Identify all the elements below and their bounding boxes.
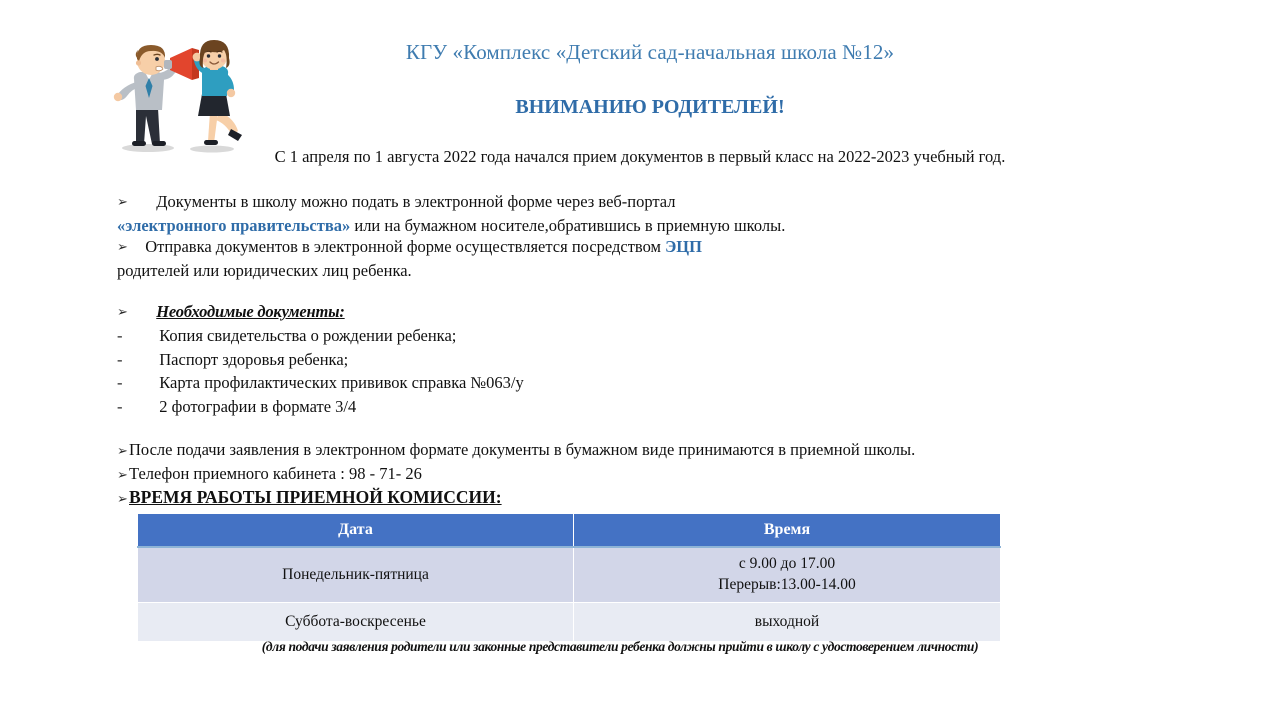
reception-schedule-table: Дата Время Понедельник-пятница с 9.00 до… (137, 513, 1001, 642)
dash-bullet-icon: - (117, 371, 129, 395)
bullet-1-line-2: «электронного правительства» или на бума… (117, 214, 785, 238)
table-head: Дата Время (138, 514, 1001, 548)
required-documents-heading-row: ➢ Необходимые документы: (117, 300, 345, 324)
intro-paragraph: С 1 апреля по 1 августа 2022 года началс… (120, 147, 1160, 167)
arrow-bullet-icon: ➢ (117, 491, 129, 510)
bullet-item-digital-signature: ➢ Отправка документов в электронной форм… (117, 235, 702, 282)
cell-date-weekdays: Понедельник-пятница (138, 547, 574, 603)
list-item: - Паспорт здоровья ребенка; (117, 348, 524, 372)
table-row: Суббота-воскресенье выходной (138, 603, 1001, 642)
required-documents-heading: Необходимые документы: (156, 302, 344, 321)
list-item: - Копия свидетельства о рождении ребенка… (117, 324, 524, 348)
list-item-label: Карта профилактических прививок справка … (159, 373, 524, 392)
tail-note-1-label: После подачи заявления в электронном фор… (129, 440, 915, 459)
cell-time-weekend: выходной (574, 603, 1001, 642)
list-item: - 2 фотографии в формате 3/4 (117, 395, 524, 419)
bullet-line: ➢ Отправка документов в электронной форм… (117, 235, 702, 259)
list-item-label: Копия свидетельства о рождении ребенка; (159, 326, 456, 345)
bullet-2-line-2: родителей или юридических лиц ребенка. (117, 259, 702, 283)
cell-date-weekend: Суббота-воскресенье (138, 603, 574, 642)
dash-bullet-icon: - (117, 324, 129, 348)
school-title: КГУ «Комплекс «Детский сад-начальная шко… (280, 40, 1020, 65)
dash-bullet-icon: - (117, 395, 129, 419)
footnote: (для подачи заявления родители или закон… (120, 639, 1120, 655)
list-item-label: Паспорт здоровья ребенка; (159, 350, 348, 369)
bullet-1-line-1: Документы в школу можно подать в электро… (156, 192, 675, 211)
tail-note-2-label: Телефон приемного кабинета : 98 - 71- 26 (129, 464, 422, 483)
ecp-highlight: ЭЦП (665, 237, 702, 256)
bullet-2-line-1-before: Отправка документов в электронной форме … (145, 237, 665, 256)
arrow-bullet-icon: ➢ (117, 443, 129, 462)
tail-notes: ➢После подачи заявления в электронном фо… (117, 438, 915, 510)
cell-time-weekdays-hours: с 9.00 до 17.00 (574, 554, 1000, 575)
table-row: Понедельник-пятница с 9.00 до 17.00 Пере… (138, 547, 1001, 603)
bullet-1-line-2-rest: или на бумажном носителе,обратившись в п… (350, 216, 785, 235)
egov-highlight: «электронного правительства» (117, 216, 350, 235)
man-with-megaphone-and-woman-clipart (100, 36, 260, 154)
bullet-item-electronic-submission: ➢ Документы в школу можно подать в элект… (117, 190, 785, 237)
table-body: Понедельник-пятница с 9.00 до 17.00 Пере… (138, 547, 1001, 642)
list-item: - Карта профилактических прививок справк… (117, 371, 524, 395)
table-header-row: Дата Время (138, 514, 1001, 548)
cell-time-weekdays: с 9.00 до 17.00 Перерыв:13.00-14.00 (574, 547, 1001, 603)
arrow-bullet-icon: ➢ (117, 239, 130, 258)
tail-note-paper-documents: ➢После подачи заявления в электронном фо… (117, 438, 915, 462)
column-header-time: Время (574, 514, 1001, 548)
schedule-heading-row: ➢ВРЕМЯ РАБОТЫ ПРИЕМНОЙ КОМИССИИ: (117, 485, 915, 510)
arrow-bullet-icon: ➢ (117, 304, 130, 323)
dash-bullet-icon: - (117, 348, 129, 372)
required-documents-list: - Копия свидетельства о рождении ребенка… (117, 324, 524, 418)
attention-heading: ВНИМАНИЮ РОДИТЕЛЕЙ! (280, 96, 1020, 119)
poster-page: КГУ «Комплекс «Детский сад-начальная шко… (0, 0, 1280, 720)
tail-note-phone: ➢Телефон приемного кабинета : 98 - 71- 2… (117, 462, 915, 486)
bullet-line: ➢ Документы в школу можно подать в элект… (117, 190, 785, 214)
schedule-heading: ВРЕМЯ РАБОТЫ ПРИЕМНОЙ КОМИССИИ: (129, 487, 502, 507)
arrow-bullet-icon: ➢ (117, 467, 129, 486)
arrow-bullet-icon: ➢ (117, 194, 130, 213)
list-item-label: 2 фотографии в формате 3/4 (159, 397, 356, 416)
cell-time-weekdays-break: Перерыв:13.00-14.00 (574, 575, 1000, 596)
column-header-date: Дата (138, 514, 574, 548)
